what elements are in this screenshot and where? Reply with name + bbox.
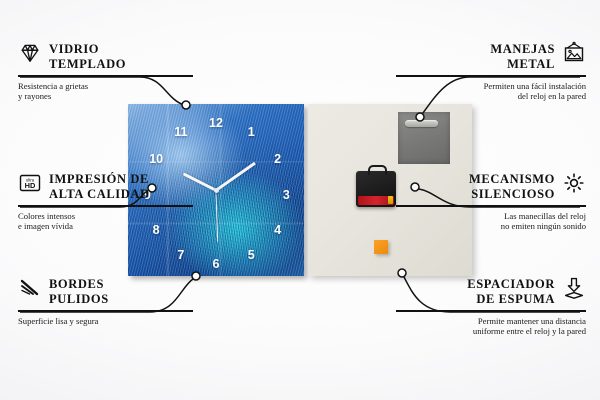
feature-description: Permite mantener una distancia uniforme … [396,316,586,337]
feature-rule [396,205,586,207]
feature-foam-spacer: ESPACIADOR DE ESPUMA Permite mantener un… [396,277,586,337]
feature-description: Las manecillas del reloj no emiten ningú… [396,211,586,232]
clock-numeral-6: 6 [213,258,220,271]
clock-mechanism [356,171,396,207]
feature-title-line2: ALTA CALIDAD [49,187,150,202]
bevel-lines-icon [18,276,42,300]
feature-high-quality-print: ultra HD IMPRESIÓN DE ALTA CALIDAD Color… [18,172,193,232]
feature-rule [18,205,193,207]
feature-silent-mechanism: MECANISMO SILENCIOSO Las manecillas del … [396,172,586,232]
foam-spacer [374,240,388,254]
clock-numeral-7: 7 [177,249,184,262]
feature-title-line2: METAL [490,57,555,72]
feature-polished-edges: BORDES PULIDOS Superficie lisa y segura [18,277,193,326]
feature-title-line1: IMPRESIÓN DE [49,172,150,187]
clock-numeral-5: 5 [248,249,255,262]
feature-description: Superficie lisa y segura [18,316,193,327]
feature-rule [396,310,586,312]
clock-numeral-4: 4 [274,223,281,236]
picture-frame-icon [562,41,586,65]
feature-description: Resistencia a grietas y rayones [18,81,193,102]
clock-numeral-1: 1 [248,125,255,138]
clock-center-cap [214,188,219,193]
infographic-canvas: 12 1 2 3 4 5 6 7 8 9 10 11 [0,0,600,400]
clock-numeral-10: 10 [149,153,163,166]
svg-text:HD: HD [25,181,36,190]
feature-title-line1: MANEJAS [490,42,555,57]
feature-title-line1: MECANISMO [469,172,555,187]
feature-title-line1: VIDRIO [49,42,126,57]
battery [388,196,393,204]
feature-rule [396,75,586,77]
ultra-hd-icon: ultra HD [18,171,42,195]
feature-rule [18,75,193,77]
feature-title-line1: BORDES [49,277,109,292]
feature-title-line2: TEMPLADO [49,57,126,72]
feature-description: Permiten una fácil instalación del reloj… [396,81,586,102]
metal-hanger-plate [398,112,450,164]
clock-numeral-11: 11 [174,125,187,138]
feature-tempered-glass: VIDRIO TEMPLADO Resistencia a grietas y … [18,42,193,102]
hanger-slot [405,120,437,127]
feature-description: Colores intensos e imagen vívida [18,211,193,232]
clock-numeral-2: 2 [274,153,281,166]
feature-rule [18,310,193,312]
diamond-icon [18,41,42,65]
arrow-down-layer-icon [562,276,586,300]
feature-title-line2: PULIDOS [49,292,109,307]
gear-icon [562,171,586,195]
feature-title-line2: DE ESPUMA [467,292,555,307]
clock-numeral-12: 12 [209,117,223,130]
feature-metal-handles: MANEJAS METAL Permiten una fácil instala… [396,42,586,102]
feature-title-line2: SILENCIOSO [469,187,555,202]
mechanism-hang-tab [368,165,387,175]
clock-numeral-3: 3 [283,189,290,202]
feature-title-line1: ESPACIADOR [467,277,555,292]
